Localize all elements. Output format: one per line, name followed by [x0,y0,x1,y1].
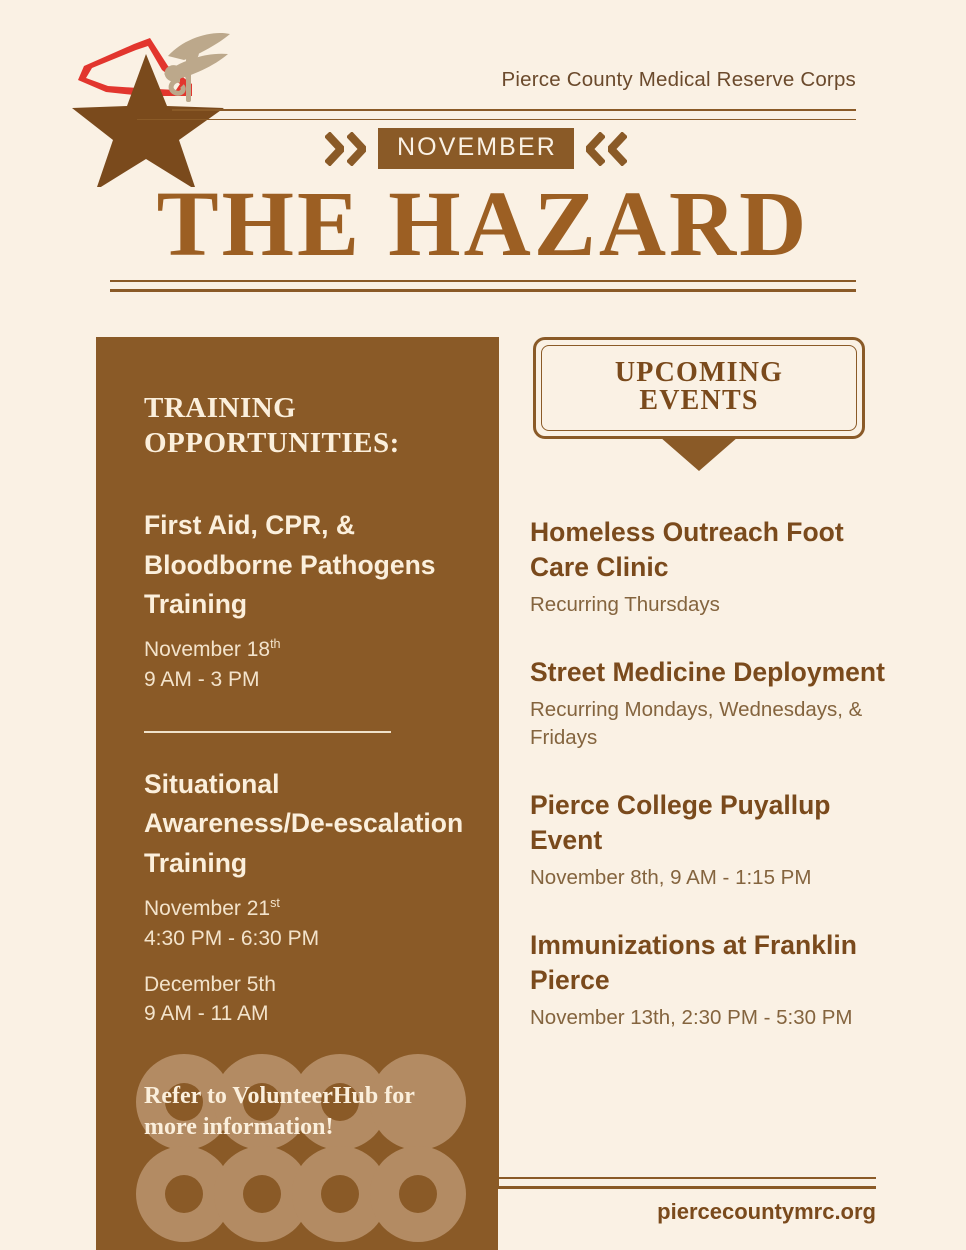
session-date: November 21 [144,897,270,920]
training-panel: TRAINING OPPORTUNITIES: First Aid, CPR, … [96,337,498,1250]
session-time: 9 AM - 3 PM [144,668,260,691]
training-course-item: Situational Awareness/De-escalation Trai… [144,765,468,1030]
header-rule-lower [137,119,856,120]
footer-rule-lower [497,1186,876,1189]
training-heading: TRAINING OPPORTUNITIES: [144,391,468,462]
session-time: 4:30 PM - 6:30 PM [144,927,319,950]
session-time: 9 AM - 11 AM [144,1002,269,1025]
events-column: UPCOMING EVENTS Homeless Outreach Foot C… [530,337,890,1067]
panel-divider [144,731,391,733]
event-detail: Recurring Mondays, Wednesdays, & Fridays [530,696,890,753]
list-item: Homeless Outreach Foot Care Clinic Recur… [530,515,890,620]
session-date: November 18 [144,638,270,661]
event-detail: November 8th, 9 AM - 1:15 PM [530,864,890,893]
page-title: THE HAZARD [0,178,966,271]
list-item: Immunizations at Franklin Pierce Novembe… [530,928,890,1033]
event-title: Pierce College Puyallup Event [530,788,890,858]
website-url[interactable]: piercecountymrc.org [496,1199,876,1225]
events-badge-label: UPCOMING EVENTS [615,357,783,416]
refer-note: Refer to VolunteerHub for more informati… [144,1081,468,1142]
footer-rule-upper [497,1177,876,1179]
event-detail: November 13th, 2:30 PM - 5:30 PM [530,1004,890,1033]
star-caduceus-logo [72,22,242,187]
course-session: December 5th 9 AM - 11 AM [144,970,468,1030]
course-title: Situational Awareness/De-escalation Trai… [144,765,468,884]
header-rule-upper [172,109,856,111]
badge-pointer-triangle [660,437,738,471]
newsletter-page: Pierce County Medical Reserve Corps NOVE… [0,0,966,1250]
list-item: Pierce College Puyallup Event November 8… [530,788,890,893]
chevrons-right-icon [325,132,366,166]
event-title: Street Medicine Deployment [530,655,890,690]
organization-name: Pierce County Medical Reserve Corps [0,68,856,92]
course-title: First Aid, CPR, & Bloodborne Pathogens T… [144,506,468,625]
event-detail: Recurring Thursdays [530,591,890,620]
course-session: November 18th 9 AM - 3 PM [144,635,468,695]
session-date: December 5th [144,973,276,996]
masthead-rule-upper [110,280,856,282]
masthead-rule-lower [110,289,856,292]
training-course-item: First Aid, CPR, & Bloodborne Pathogens T… [144,506,468,695]
date-suffix: th [270,637,281,651]
upcoming-events-badge: UPCOMING EVENTS [533,337,865,439]
event-title: Homeless Outreach Foot Care Clinic [530,515,890,585]
date-suffix: st [270,896,280,910]
month-label: NOVEMBER [378,128,574,169]
course-session: November 21st 4:30 PM - 6:30 PM [144,894,468,954]
events-list: Homeless Outreach Foot Care Clinic Recur… [530,515,890,1032]
list-item: Street Medicine Deployment Recurring Mon… [530,655,890,753]
event-title: Immunizations at Franklin Pierce [530,928,890,998]
month-band: NOVEMBER [325,126,627,171]
chevrons-left-icon [586,132,627,166]
